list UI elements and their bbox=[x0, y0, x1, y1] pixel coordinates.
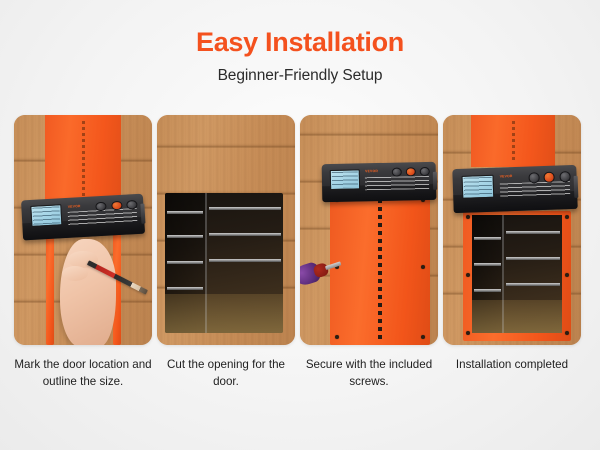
interior-slat bbox=[209, 233, 281, 236]
interior-slat bbox=[167, 211, 203, 214]
page-title: Easy Installation bbox=[0, 28, 600, 58]
door-body bbox=[330, 193, 430, 345]
unit-side-cap bbox=[433, 172, 437, 190]
step-caption-3: Secure with the included screws. bbox=[300, 357, 438, 391]
interior-slat bbox=[474, 263, 501, 266]
unit-label-text bbox=[68, 208, 137, 225]
interior-floor bbox=[165, 294, 283, 333]
screw-icon bbox=[335, 335, 339, 339]
unit-label-text bbox=[500, 181, 570, 198]
step-caption-2: Cut the opening for the door. bbox=[157, 357, 295, 391]
interior-floor bbox=[472, 300, 562, 333]
screw-icon bbox=[565, 331, 569, 335]
interior-slat bbox=[506, 231, 560, 234]
step-image-3: VEVOR bbox=[300, 115, 438, 345]
screw-icon bbox=[421, 335, 425, 339]
open-doorway-interior bbox=[472, 215, 562, 333]
interior-slat bbox=[474, 289, 501, 292]
unit-side-cap bbox=[574, 176, 579, 197]
screwdriver-shaft bbox=[325, 261, 341, 270]
header: Easy Installation Beginner-Friendly Setu… bbox=[0, 0, 600, 85]
control-unit-3: VEVOR bbox=[322, 162, 437, 202]
step-caption-1: Mark the door location and outline the s… bbox=[14, 357, 152, 391]
brand-label-3: VEVOR bbox=[365, 169, 378, 173]
interior-slat bbox=[209, 259, 281, 262]
interior-slat bbox=[167, 235, 203, 238]
door-rail-left bbox=[46, 223, 54, 345]
interior-divider bbox=[502, 215, 504, 333]
door-rack-strip bbox=[378, 199, 382, 339]
screw-icon bbox=[565, 273, 569, 277]
interior-slat bbox=[167, 261, 203, 264]
interior-slat bbox=[209, 207, 281, 210]
brand-label-4: VEVOR bbox=[500, 175, 513, 179]
interior-slat bbox=[167, 287, 203, 290]
caption-row: Mark the door location and outline the s… bbox=[14, 357, 586, 391]
cut-opening bbox=[165, 193, 283, 333]
hand-holding-pencil bbox=[60, 239, 116, 345]
screw-icon bbox=[421, 265, 425, 269]
control-unit-4: VEVOR bbox=[452, 165, 577, 213]
interior-slat bbox=[474, 237, 501, 240]
screw-icon bbox=[565, 215, 569, 219]
lcd-display-icon bbox=[461, 175, 494, 199]
mode-button-icon bbox=[528, 172, 540, 183]
control-unit-1: VEVOR bbox=[21, 194, 145, 241]
interior-slat bbox=[506, 257, 560, 260]
step-image-2 bbox=[157, 115, 295, 345]
unit-label-text bbox=[365, 176, 429, 190]
interior-slat bbox=[506, 283, 560, 286]
set-button-icon bbox=[559, 171, 571, 182]
lcd-display-icon bbox=[30, 205, 63, 228]
brand-label-1: VEVOR bbox=[68, 204, 81, 209]
step-image-4: VEVOR bbox=[443, 115, 581, 345]
page-subtitle: Beginner-Friendly Setup bbox=[0, 67, 600, 85]
interior-divider bbox=[205, 193, 207, 333]
step-image-row: VEVOR bbox=[14, 115, 586, 345]
door-raised-panel bbox=[471, 115, 555, 167]
step-caption-4: Installation completed bbox=[443, 357, 581, 391]
screw-icon bbox=[466, 331, 470, 335]
step-image-1: VEVOR bbox=[14, 115, 152, 345]
screw-icon bbox=[466, 273, 470, 277]
screw-icon bbox=[466, 215, 470, 219]
lcd-display-icon bbox=[330, 169, 360, 189]
finger-middle bbox=[62, 266, 88, 281]
